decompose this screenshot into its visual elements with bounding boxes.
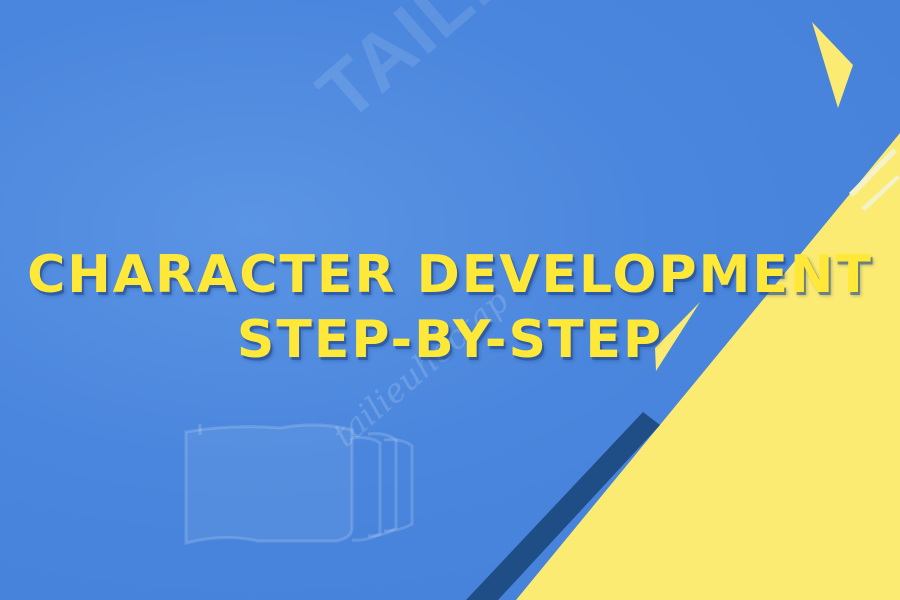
title-line-1: CHARACTER DEVELOPMENT (27, 244, 873, 307)
poster-canvas: TAILIEUHAY tailieuhoctap CHARACTER DEVEL… (0, 0, 900, 600)
title-line-2: STEP-BY-STEP (237, 309, 663, 372)
title-block: CHARACTER DEVELOPMENT STEP-BY-STEP (0, 0, 900, 600)
